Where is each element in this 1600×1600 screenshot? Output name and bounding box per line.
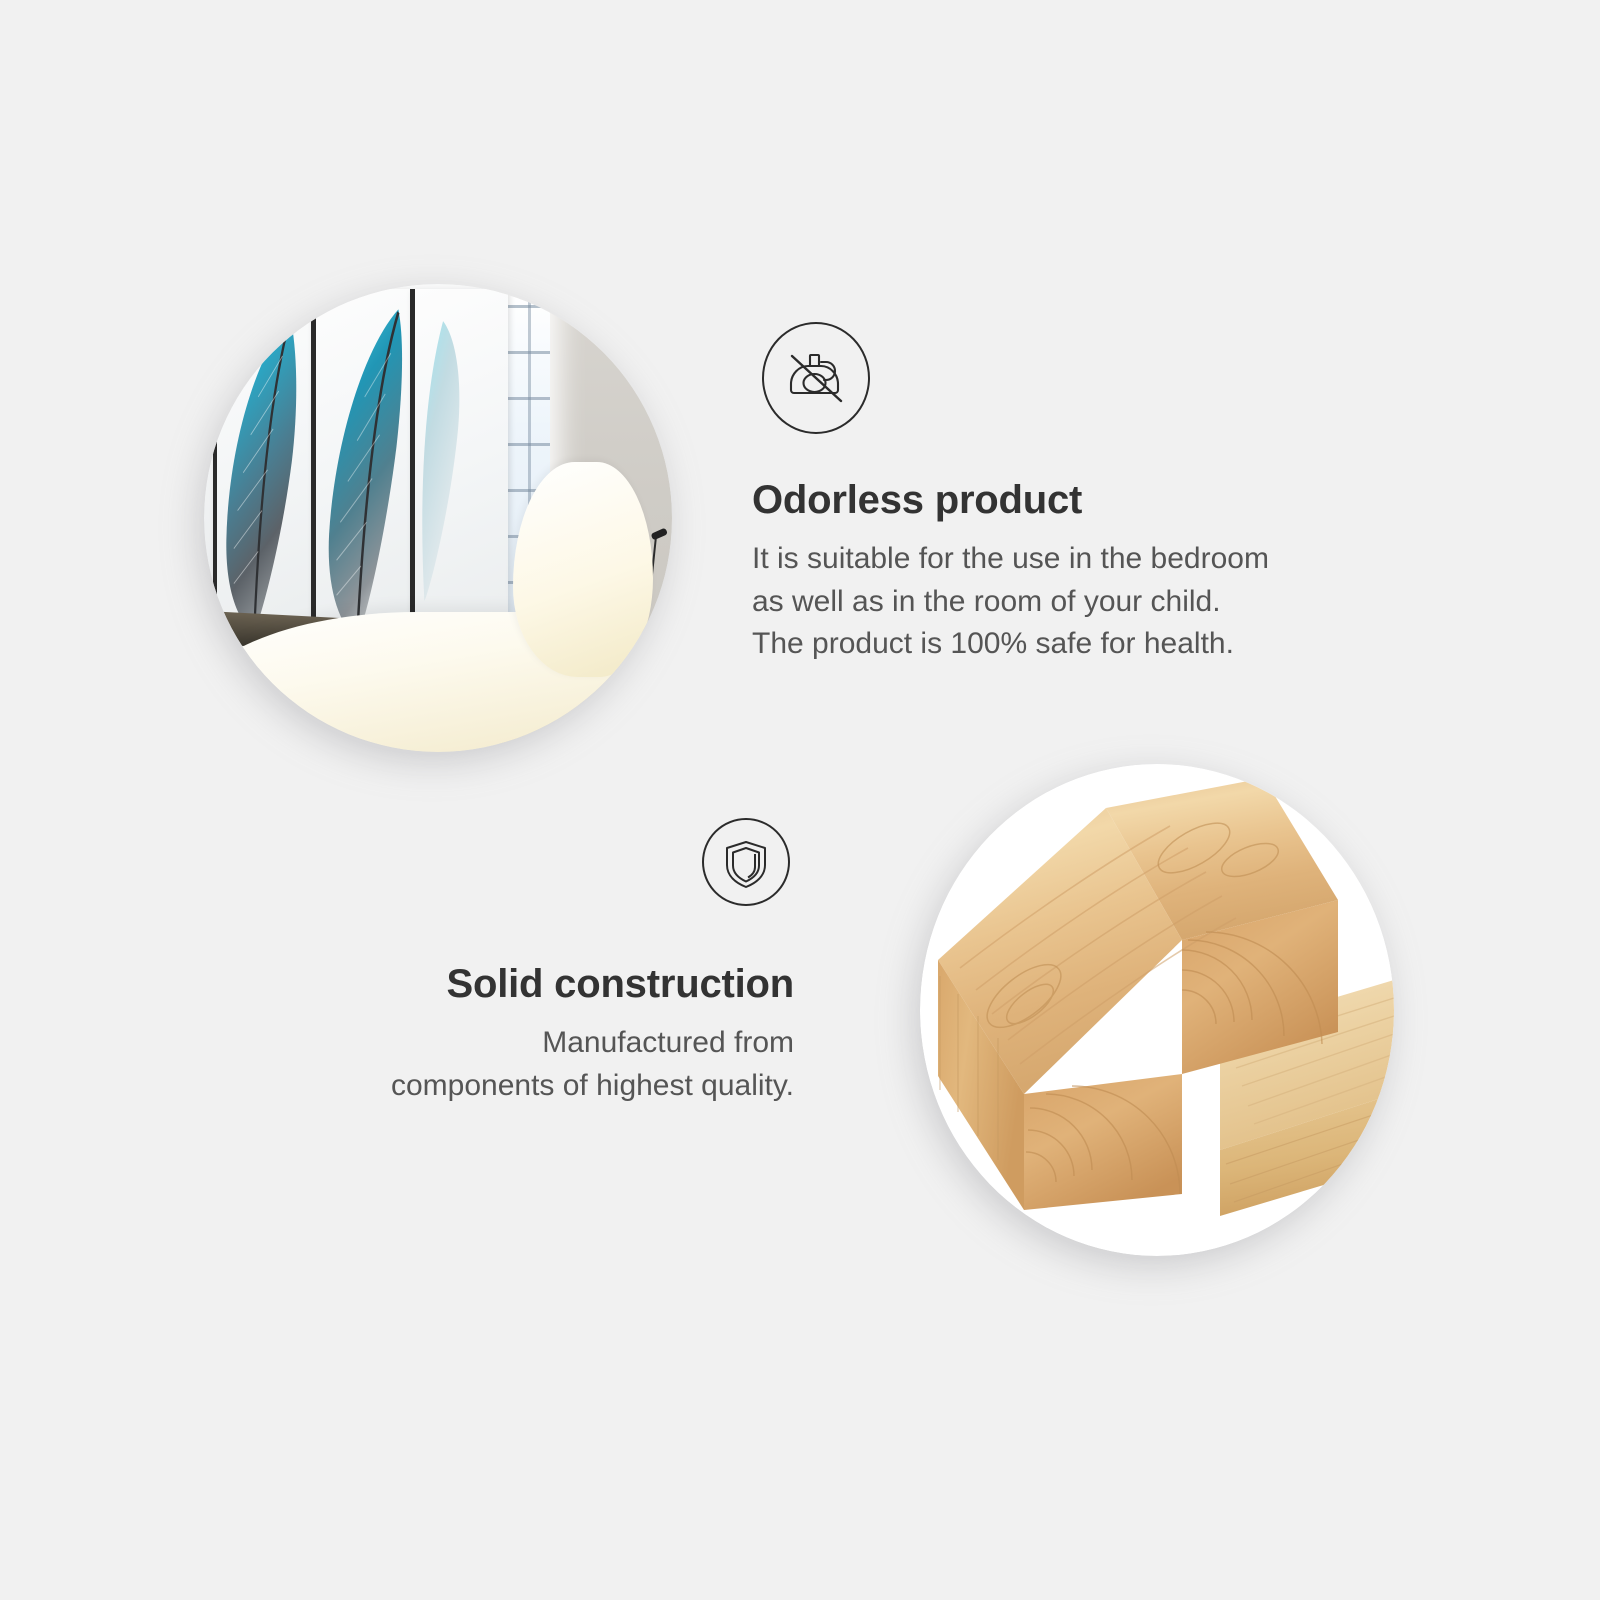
no-fragrance-glyph <box>781 343 851 413</box>
wooden-beams-graphic <box>920 764 1394 1256</box>
feature-text-solid: Solid construction Manufactured from com… <box>180 962 794 1107</box>
bedroom-feather-triptych-photo <box>204 284 672 752</box>
feature-body-line: as well as in the room of your child. <box>752 581 1452 624</box>
wooden-beams-photo <box>920 764 1394 1256</box>
feather-triptych <box>213 289 508 668</box>
feature-body: It is suitable for the use in the bedroo… <box>752 538 1452 666</box>
wood-scene <box>920 764 1394 1256</box>
infographic-canvas: Odorless product It is suitable for the … <box>0 0 1600 1600</box>
feature-body-line: It is suitable for the use in the bedroo… <box>752 538 1452 581</box>
feather-graphic-1 <box>217 289 311 668</box>
feature-title: Odorless product <box>752 478 1452 522</box>
triptych-panel-1 <box>213 289 311 668</box>
feather-graphic-2 <box>316 289 410 668</box>
no-fragrance-icon <box>762 322 870 434</box>
shield-icon <box>702 818 790 906</box>
feature-body-line: The product is 100% safe for health. <box>752 623 1452 666</box>
bedroom-scene <box>204 284 672 752</box>
pillow <box>513 462 653 677</box>
shield-glyph <box>717 833 775 891</box>
photo-clip <box>920 764 1394 1256</box>
feature-body-line: components of highest quality. <box>180 1065 794 1108</box>
feature-body-line: Manufactured from <box>180 1022 794 1065</box>
triptych-panel-3 <box>410 289 509 668</box>
feature-text-odorless: Odorless product It is suitable for the … <box>752 478 1452 666</box>
photo-clip <box>204 284 672 752</box>
feather-graphic-3 <box>415 289 509 668</box>
triptych-panel-2 <box>311 289 410 668</box>
feature-title: Solid construction <box>180 962 794 1006</box>
feature-body: Manufactured from components of highest … <box>180 1022 794 1107</box>
